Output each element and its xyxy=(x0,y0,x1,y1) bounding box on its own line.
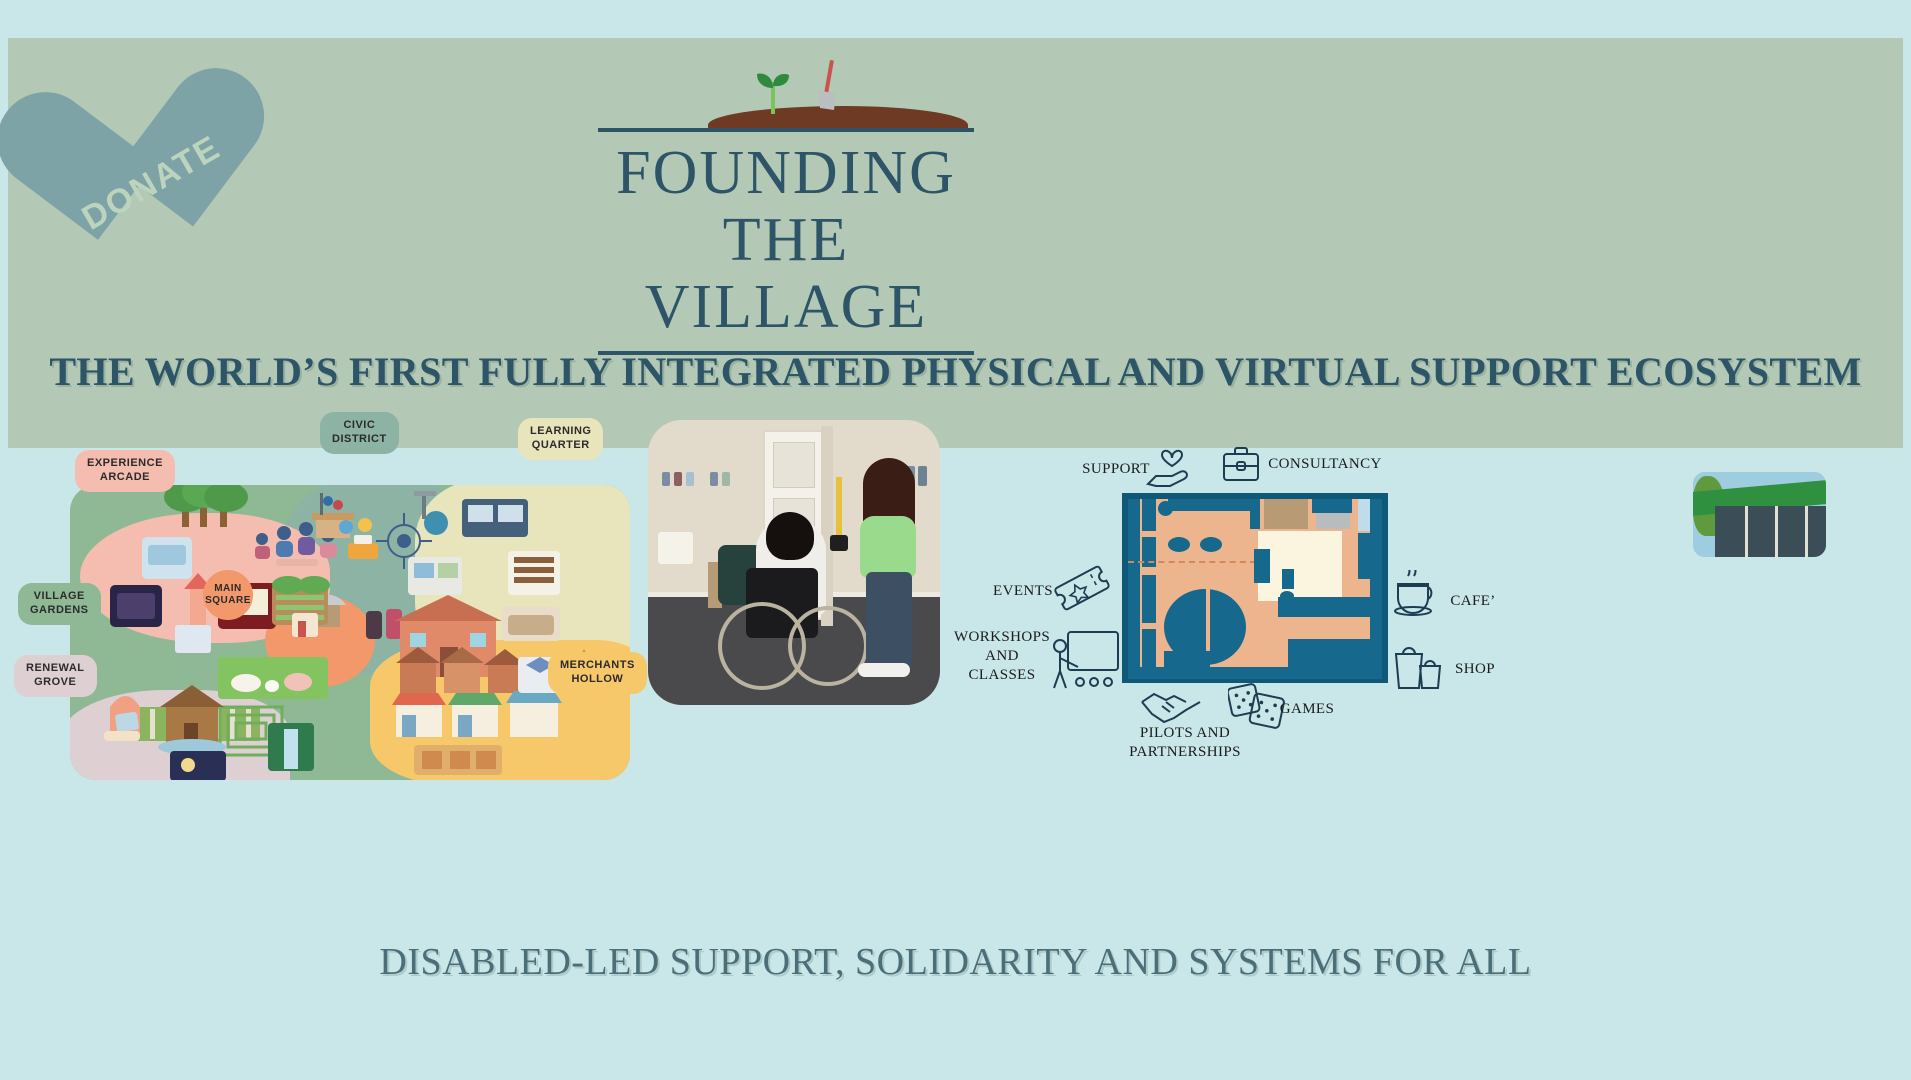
village-map-illustration[interactable]: EXPERIENCEARCADE CIVICDISTRICT LEARNINGQ… xyxy=(20,460,640,790)
logo-rule-top xyxy=(598,128,974,132)
community-photo[interactable] xyxy=(648,420,940,705)
floorplan-fixture xyxy=(1278,597,1382,617)
header-tagline: THE WORLD’S FIRST FULLY INTEGRATED PHYSI… xyxy=(0,348,1911,395)
floorplan-table xyxy=(1158,501,1173,516)
floorplan-fixture xyxy=(1142,499,1156,531)
wall-switch xyxy=(662,472,670,486)
floorplan-fixture xyxy=(1282,569,1294,589)
floorplan-wall xyxy=(1128,667,1382,679)
floorplan-table xyxy=(1168,537,1190,552)
map-label-renewal-grove[interactable]: RENEWALGROVE xyxy=(14,655,97,697)
label-consultancy: CONSULTANCY xyxy=(1265,455,1385,474)
floorplan-wall xyxy=(1370,499,1382,679)
label-games: GAMES xyxy=(1272,700,1342,719)
floorplan-wall xyxy=(1128,499,1140,679)
logo-line-1: FOUNDING xyxy=(598,140,974,207)
wall-switch xyxy=(674,472,682,486)
floorplan-table xyxy=(1280,591,1294,601)
floorplan-fixture xyxy=(1288,639,1382,667)
map-artwork xyxy=(70,485,630,780)
floorplan-table xyxy=(1200,537,1222,552)
shopping-bags-icon[interactable] xyxy=(1390,640,1444,690)
map-label-village-gardens[interactable]: VILLAGEGARDENS xyxy=(18,583,101,625)
shopfront-photo[interactable] xyxy=(1693,472,1826,557)
ticket-icon[interactable] xyxy=(1052,558,1112,618)
photo-shop-glass xyxy=(1715,506,1826,557)
venue-floorplan[interactable] xyxy=(1122,493,1388,683)
wall-switch xyxy=(710,472,718,486)
photo-mullion xyxy=(1745,506,1748,557)
seedling-icon xyxy=(753,66,793,114)
photo-mullion xyxy=(1805,506,1808,557)
label-events: EVENTS xyxy=(988,582,1058,601)
floorplan-fixture xyxy=(1312,499,1352,513)
tape-measure-strip xyxy=(836,477,842,539)
site-logo[interactable]: FOUNDING THE VILLAGE xyxy=(598,62,974,355)
floorplan-room-tan xyxy=(1264,499,1308,529)
floorplan-divider xyxy=(1128,561,1256,563)
tape-measure-body xyxy=(830,535,848,551)
label-cafe: CAFE’ xyxy=(1443,592,1503,611)
footer-tagline: DISABLED-LED SUPPORT, SOLIDARITY AND SYS… xyxy=(0,940,1911,984)
hand-heart-icon[interactable] xyxy=(1146,440,1198,488)
photo-radiator xyxy=(658,532,693,564)
poster-page: DONATE FOUNDING THE VILLAGE THE WORLD’S … xyxy=(0,0,1911,1080)
donate-button[interactable]: DONATE xyxy=(29,66,242,266)
wall-switch xyxy=(686,472,694,486)
whiteboard-presenter-icon[interactable] xyxy=(1048,628,1120,690)
map-base xyxy=(70,485,630,780)
map-label-civic-district[interactable]: CIVICDISTRICT xyxy=(320,412,399,454)
map-label-merchants-hollow[interactable]: MERCHANTSHOLLOW xyxy=(548,652,647,694)
floorplan-fixture xyxy=(1142,575,1156,623)
floorplan-wall xyxy=(1250,499,1260,529)
handshake-icon[interactable] xyxy=(1140,688,1202,728)
briefcase-icon[interactable] xyxy=(1222,444,1260,484)
photo-mullion xyxy=(1775,506,1778,557)
coffee-cup-icon[interactable] xyxy=(1392,570,1442,618)
wheelchair-wheel xyxy=(788,606,868,686)
map-label-learning-quarter[interactable]: LEARNINGQUARTER xyxy=(518,418,603,460)
logo-line-2: THE VILLAGE xyxy=(598,207,974,341)
map-label-main-square[interactable]: MAINSQUARE xyxy=(203,570,253,620)
label-workshops-and-classes: WORKSHOPSANDCLASSES xyxy=(946,628,1058,684)
wall-switch xyxy=(918,466,927,486)
spade-icon xyxy=(810,60,842,114)
standing-person-body xyxy=(860,516,916,578)
map-label-experience-arcade[interactable]: EXPERIENCEARCADE xyxy=(75,450,175,492)
floorplan-fixture xyxy=(1168,499,1254,511)
person-hair xyxy=(766,512,814,560)
floorplan-fixture xyxy=(1164,651,1210,667)
floorplan-room-cream xyxy=(1258,531,1342,601)
floorplan-counter xyxy=(1316,513,1350,529)
floorplan-fixture xyxy=(1254,549,1270,583)
standing-person-legs xyxy=(866,572,912,668)
logo-sprout-artwork xyxy=(598,62,974,128)
floorplan-floor xyxy=(1128,499,1382,677)
standing-person-shoe xyxy=(858,663,910,677)
wall-switch xyxy=(722,472,730,486)
label-shop: SHOP xyxy=(1445,660,1505,679)
